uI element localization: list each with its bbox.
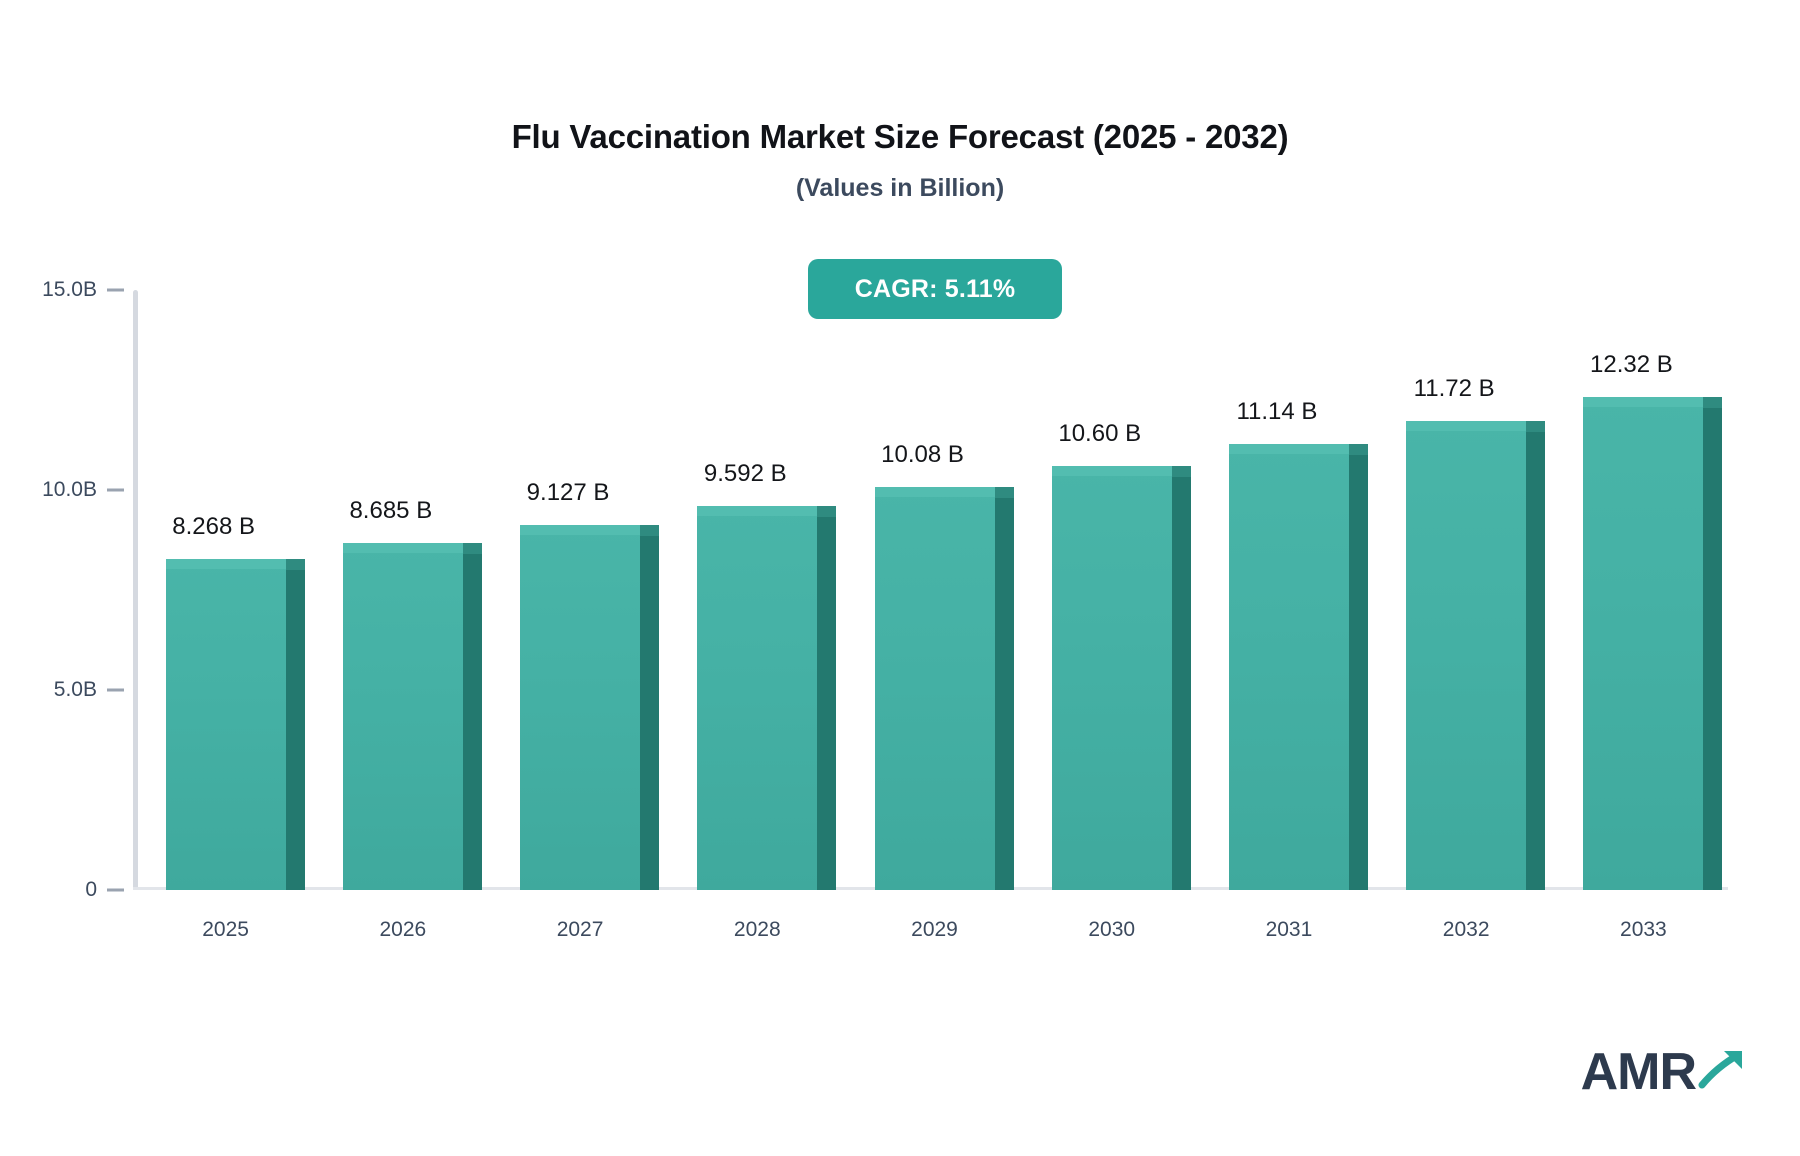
x-axis-tick-label: 2030	[1088, 918, 1135, 942]
bar[interactable]	[520, 525, 640, 890]
bar[interactable]	[1052, 466, 1172, 890]
chart-container: Flu Vaccination Market Size Forecast (20…	[0, 0, 1800, 1156]
bar-top-face	[1229, 444, 1349, 454]
bar-top-face	[1406, 421, 1526, 431]
y-axis-tick-label: 15.0B	[5, 278, 97, 302]
bar-top-bevel	[1172, 466, 1191, 477]
bar-front-face	[875, 487, 995, 890]
bar[interactable]	[1583, 397, 1703, 890]
x-axis-tick-label: 2032	[1443, 918, 1490, 942]
bar-top-bevel	[1349, 444, 1368, 455]
bar-top-bevel	[1526, 421, 1545, 432]
x-axis-tick-label: 2029	[911, 918, 958, 942]
bar-front-face	[166, 559, 286, 890]
bar-value-label: 9.127 B	[527, 479, 610, 507]
chart-subtitle: (Values in Billion)	[0, 174, 1800, 203]
logo-text: AMR	[1581, 1046, 1696, 1098]
bar-side-face	[1349, 455, 1368, 890]
y-axis-tick-label: 0	[5, 878, 97, 902]
bar-side-face	[286, 570, 305, 890]
bar-value-label: 10.08 B	[881, 441, 964, 469]
bar-top-bevel	[463, 543, 482, 554]
y-axis-tick-mark	[107, 889, 124, 892]
bar-value-label: 8.685 B	[349, 497, 432, 525]
bar[interactable]	[697, 506, 817, 890]
bar-side-face	[1526, 432, 1545, 890]
bar-front-face	[1052, 466, 1172, 890]
bar-side-face	[1703, 408, 1722, 890]
bar-top-bevel	[1703, 397, 1722, 408]
bar-front-face	[1583, 397, 1703, 890]
x-axis-tick-label: 2031	[1266, 918, 1313, 942]
bar-front-face	[520, 525, 640, 890]
arrow-up-right-icon	[1698, 1047, 1744, 1094]
bar-front-face	[1406, 421, 1526, 890]
y-axis-tick-mark	[107, 489, 124, 492]
y-axis-tick-label: 5.0B	[5, 678, 97, 702]
bar-value-label: 8.268 B	[172, 513, 255, 541]
x-axis-tick-label: 2033	[1620, 918, 1667, 942]
bar[interactable]	[1406, 421, 1526, 890]
bar-top-bevel	[817, 506, 836, 517]
bar-front-face	[343, 543, 463, 890]
bar-front-face	[697, 506, 817, 890]
bar-value-label: 11.72 B	[1414, 375, 1495, 403]
bar-value-label: 11.14 B	[1236, 398, 1317, 426]
bar-side-face	[817, 517, 836, 890]
page-title: Flu Vaccination Market Size Forecast (20…	[0, 118, 1800, 156]
bar-top-face	[1583, 397, 1703, 407]
bar-top-bevel	[995, 487, 1014, 498]
bar-top-face	[1052, 466, 1172, 476]
bar-top-face	[166, 559, 286, 569]
y-axis-tick-mark	[107, 289, 124, 292]
bar-value-label: 9.592 B	[704, 460, 787, 488]
x-axis-tick-label: 2027	[557, 918, 604, 942]
bar-top-bevel	[640, 525, 659, 536]
bar-front-face	[1229, 444, 1349, 890]
bar-side-face	[640, 536, 659, 890]
x-axis-tick-label: 2026	[379, 918, 426, 942]
bar-top-bevel	[286, 559, 305, 570]
bar-top-face	[343, 543, 463, 553]
y-axis-tick-label: 10.0B	[5, 478, 97, 502]
bar[interactable]	[343, 543, 463, 890]
bar[interactable]	[875, 487, 995, 890]
bar-value-label: 12.32 B	[1590, 351, 1673, 379]
bar-side-face	[995, 498, 1014, 890]
bar-side-face	[463, 554, 482, 890]
x-axis-tick-label: 2025	[202, 918, 249, 942]
bar-top-face	[697, 506, 817, 516]
bar-value-label: 10.60 B	[1058, 420, 1141, 448]
bar[interactable]	[1229, 444, 1349, 890]
amr-logo: AMR	[1581, 1046, 1744, 1098]
x-axis-tick-label: 2028	[734, 918, 781, 942]
bar-top-face	[875, 487, 995, 497]
bar-top-face	[520, 525, 640, 535]
y-axis-tick-mark	[107, 689, 124, 692]
bar[interactable]	[166, 559, 286, 890]
bar-side-face	[1172, 477, 1191, 890]
